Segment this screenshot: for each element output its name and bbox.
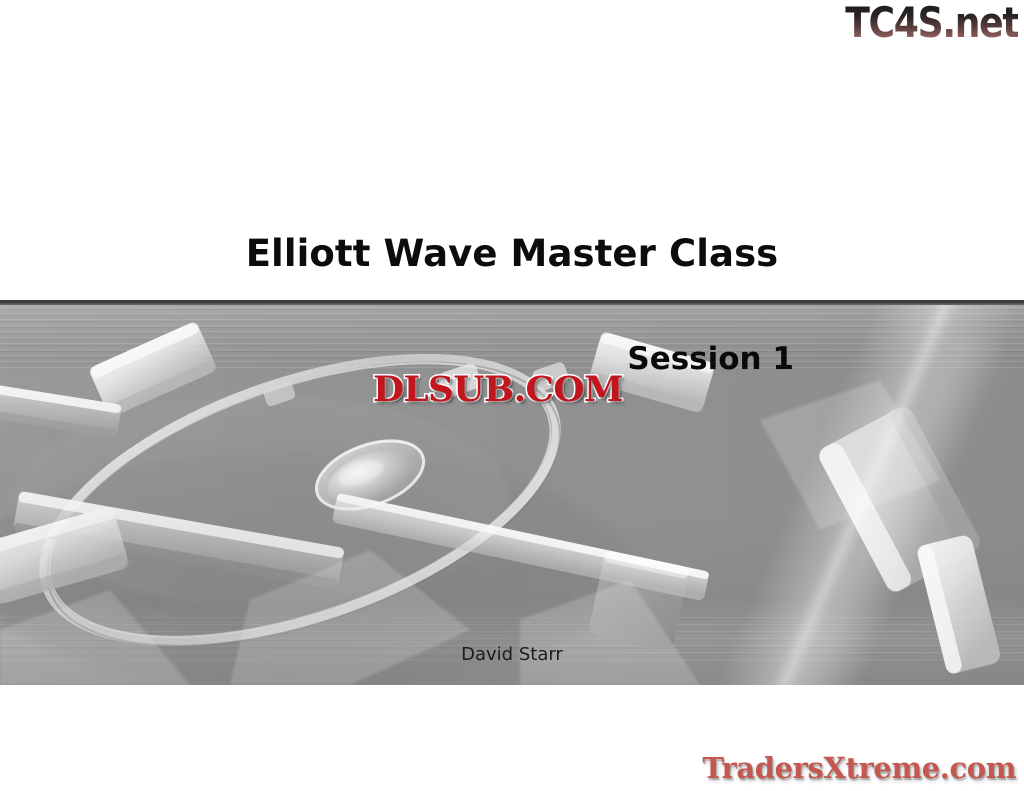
page-title: Elliott Wave Master Class [0,232,1024,275]
tc4s-logo: TC4S.net [845,2,1018,44]
banner-top-bar [0,300,1024,305]
dlsub-watermark: DLSUB.COM [373,372,623,407]
tradersxtreme-logo: TradersXtreme.com [702,754,1016,783]
presenter-name: David Starr [0,644,1024,665]
